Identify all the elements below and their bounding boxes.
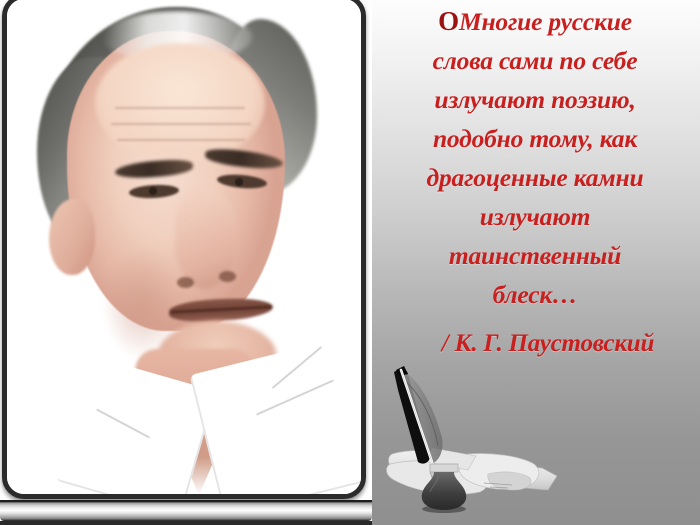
quill-pen-inkwell-parchment-illustration <box>372 352 572 522</box>
portrait-forehead-line <box>117 139 245 141</box>
quote-line-5: драгоценные камни <box>372 158 700 197</box>
portrait-pupil-right <box>235 178 243 186</box>
portrait-ear <box>49 199 95 275</box>
portrait-forehead-line <box>111 123 251 125</box>
portrait-pupil-left <box>149 187 157 195</box>
slide-canvas: ОМногие русские слова сами по себе излуч… <box>0 0 700 525</box>
quote-panel: ОМногие русские слова сами по себе излуч… <box>372 0 700 525</box>
paustovsky-portrait <box>7 0 361 494</box>
portrait-forehead-line <box>115 107 245 109</box>
quote-line-7: таинственный <box>372 236 700 275</box>
portrait-frame <box>2 0 366 499</box>
quote-line-1-text: Многие русские <box>459 7 632 36</box>
slide-bottom-shadow <box>0 521 372 525</box>
quote-dropcap: О <box>438 6 459 36</box>
portrait-panel <box>0 0 372 525</box>
quote-block: ОМногие русские слова сами по себе излуч… <box>372 2 700 363</box>
quote-line-8: блеск… <box>372 275 700 314</box>
parchment-sheets <box>387 448 557 494</box>
quote-line-4: подобно тому, как <box>372 119 700 158</box>
quote-line-1: ОМногие русские <box>372 2 700 41</box>
portrait-forehead <box>95 43 265 163</box>
quote-line-3: излучают поэзию, <box>372 80 700 119</box>
slide-bottom-chrome-bar <box>0 500 372 521</box>
quote-line-6: излучают <box>372 197 700 236</box>
portrait-nostril-right <box>219 271 236 282</box>
quote-line-2: слова сами по себе <box>372 41 700 80</box>
